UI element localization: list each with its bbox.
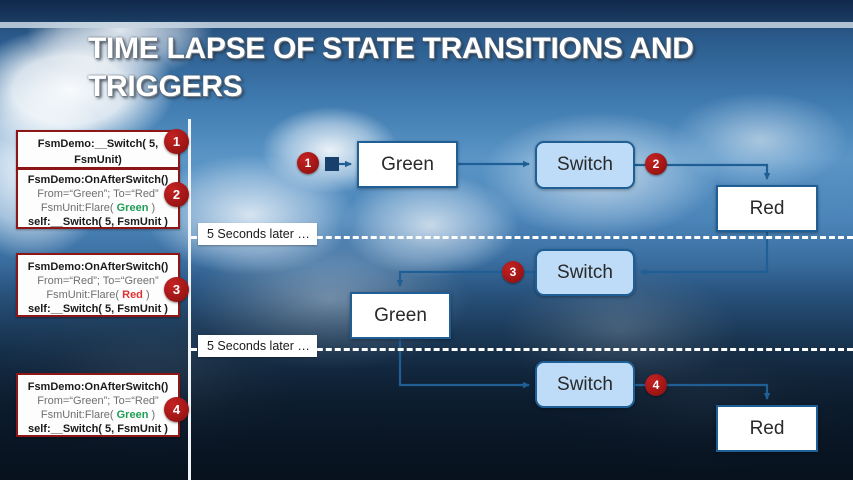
state-node-red-2: Red (716, 405, 818, 452)
step-badge-code-3: 3 (164, 277, 189, 302)
switch-node-3: Switch (535, 361, 635, 408)
code-line: FsmUnit:Flare( Red ) (18, 288, 178, 302)
code-line: FsmUnit:Flare( Green ) (18, 408, 178, 422)
code-line: FsmDemo:OnAfterSwitch() (18, 380, 178, 394)
step-badge-diagram-4: 4 (645, 374, 667, 396)
code-line: From=“Green”; To=“Red” (18, 187, 178, 201)
color-token-green: Green (117, 409, 149, 421)
code-callout-2: FsmDemo:OnAfterSwitch() From=“Green”; To… (16, 168, 180, 229)
code-line: self:__Switch( 5, FsmUnit ) (18, 302, 178, 316)
code-line: FsmDemo:OnAfterSwitch() (18, 173, 178, 187)
step-badge-code-2: 2 (164, 182, 189, 207)
code-line: FsmDemo:OnAfterSwitch() (18, 260, 178, 274)
code-line: From=“Green”; To=“Red” (18, 394, 178, 408)
code-line: self:__Switch( 5, FsmUnit ) (18, 422, 178, 436)
step-badge-diagram-1: 1 (297, 152, 319, 174)
code-line: FsmDemo:__Switch( 5, (18, 136, 178, 152)
state-node-green-1: Green (357, 141, 458, 188)
code-callout-4: FsmDemo:OnAfterSwitch() From=“Green”; To… (16, 373, 180, 437)
code-fragment: FsmUnit:Flare( (41, 409, 117, 421)
code-line: FsmUnit:Flare( Green ) (18, 201, 178, 215)
time-separator-label-2: 5 Seconds later … (198, 335, 317, 357)
color-token-green: Green (117, 202, 149, 214)
step-badge-code-4: 4 (164, 397, 189, 422)
code-fragment: FsmUnit:Flare( (46, 289, 122, 301)
code-fragment: ) (148, 202, 155, 214)
step-badge-diagram-2: 2 (645, 153, 667, 175)
code-line: From=“Red”; To=“Green” (18, 274, 178, 288)
state-node-green-2: Green (350, 292, 451, 339)
color-token-red: Red (122, 289, 143, 301)
code-callout-3: FsmDemo:OnAfterSwitch() From=“Red”; To=“… (16, 253, 180, 317)
slide-canvas: TIME LAPSE OF STATE TRANSITIONS AND TRIG… (0, 0, 853, 480)
code-fragment: ) (148, 409, 155, 421)
code-line: self:__Switch( 5, FsmUnit ) (18, 215, 178, 229)
code-line: FsmUnit) (18, 152, 178, 168)
step-badge-diagram-3: 3 (502, 261, 524, 283)
switch-node-2: Switch (535, 249, 635, 296)
switch-node-1: Switch (535, 141, 635, 189)
code-fragment: ) (143, 289, 150, 301)
step-badge-code-1: 1 (164, 129, 189, 154)
code-fragment: FsmUnit:Flare( (41, 202, 117, 214)
state-node-red-1: Red (716, 185, 818, 232)
code-callout-1: FsmDemo:__Switch( 5, FsmUnit) (16, 130, 180, 169)
start-node-marker (325, 157, 339, 171)
time-separator-label-1: 5 Seconds later … (198, 223, 317, 245)
